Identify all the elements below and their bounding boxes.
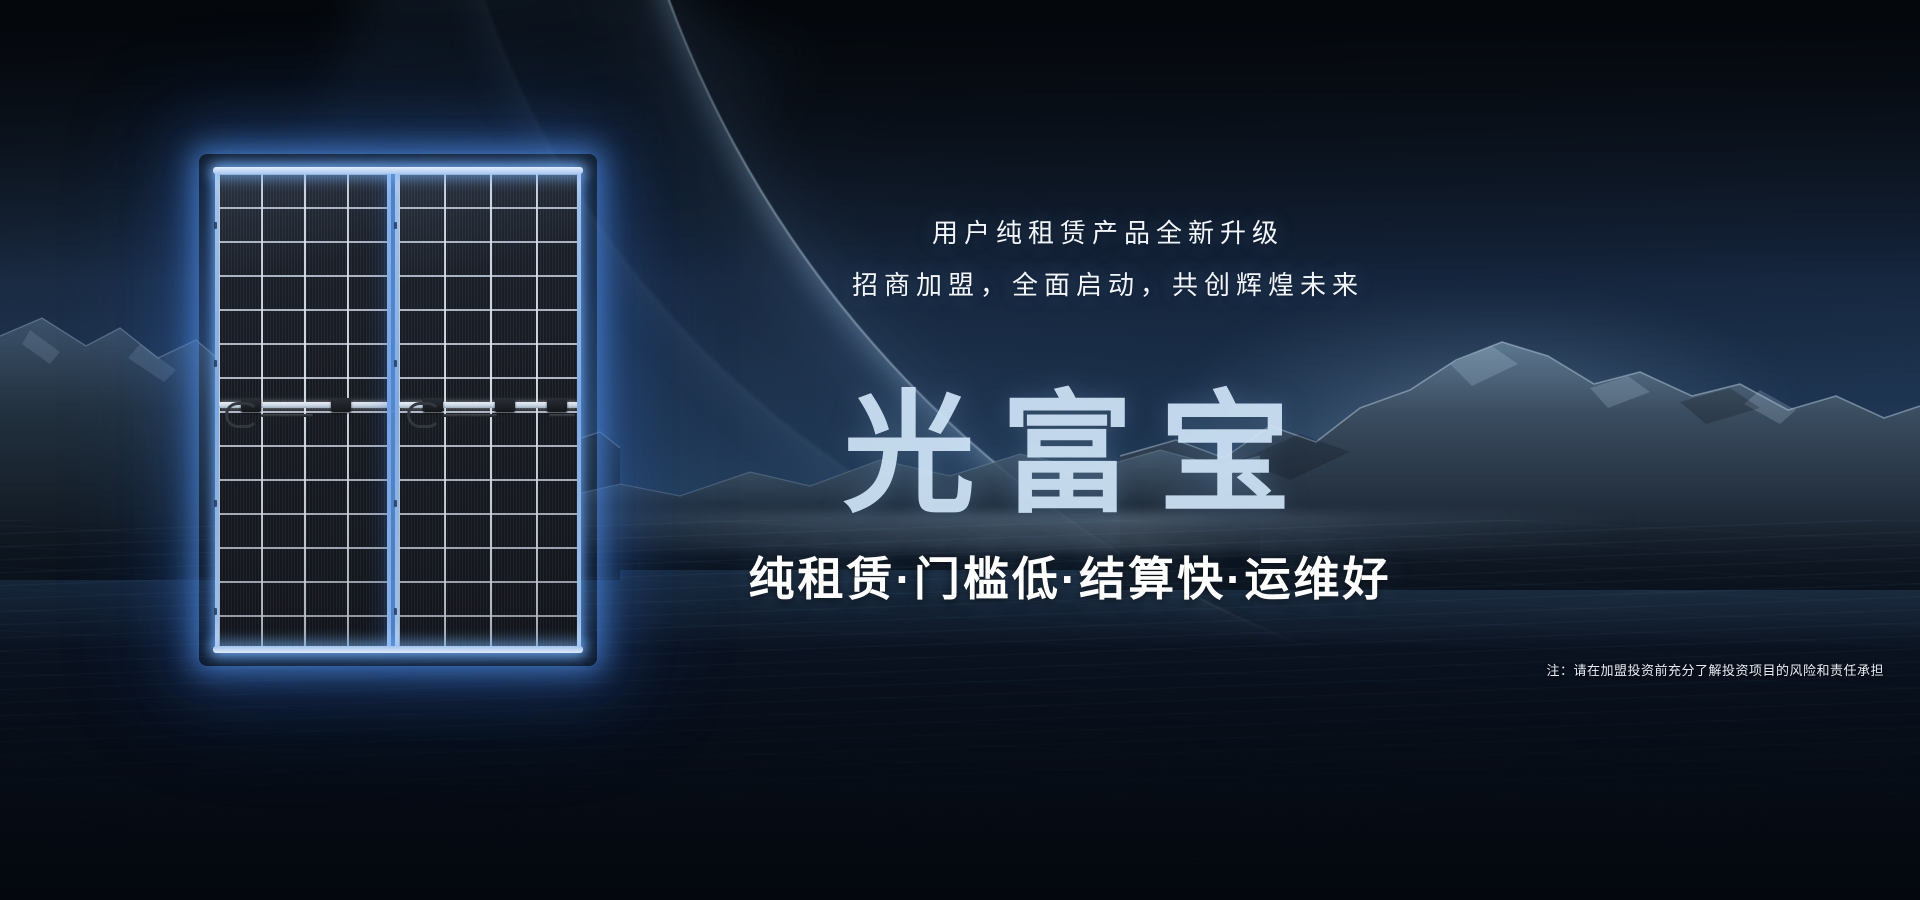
frame-bolt [214,608,217,615]
dc-cable [549,414,575,417]
dc-cable-loop [407,402,441,428]
frame-bolt [394,500,397,507]
frame-bolt [214,500,217,507]
module-glass-right [399,174,577,646]
brand-name: 光富宝 [843,348,1317,539]
solar-module-left [215,170,391,650]
frame-bolt [394,360,397,367]
frame-bolt [394,222,397,229]
solar-module-right [395,170,581,650]
frame-bolt [394,608,397,615]
solar-panel-product [215,170,581,650]
disclaimer-note: 注：请在加盟投资前充分了解投资项目的风险和责任承担 [1546,660,1884,679]
junction-connector [495,398,515,412]
dc-cable [443,414,497,417]
frame-bolt [214,222,217,229]
module-glass-left [219,174,387,646]
dc-cable [261,414,313,417]
frame-bolt [214,360,217,367]
junction-connector [331,398,351,412]
promo-banner: 用户纯租赁产品全新升级 招商加盟，全面启动，共创辉煌未来 光富宝 纯租赁·门槛低… [0,0,1920,900]
panel-top-rail [213,167,583,174]
dc-cable-loop [225,402,259,428]
headline-line-2: 招商加盟，全面启动，共创辉煌未来 [852,265,1364,302]
panel-bottom-rail [213,646,583,653]
headline-line-1: 用户纯租赁产品全新升级 [932,213,1284,250]
junction-connector [547,398,567,412]
tagline: 纯租赁·门槛低·结算快·运维好 [749,543,1392,609]
